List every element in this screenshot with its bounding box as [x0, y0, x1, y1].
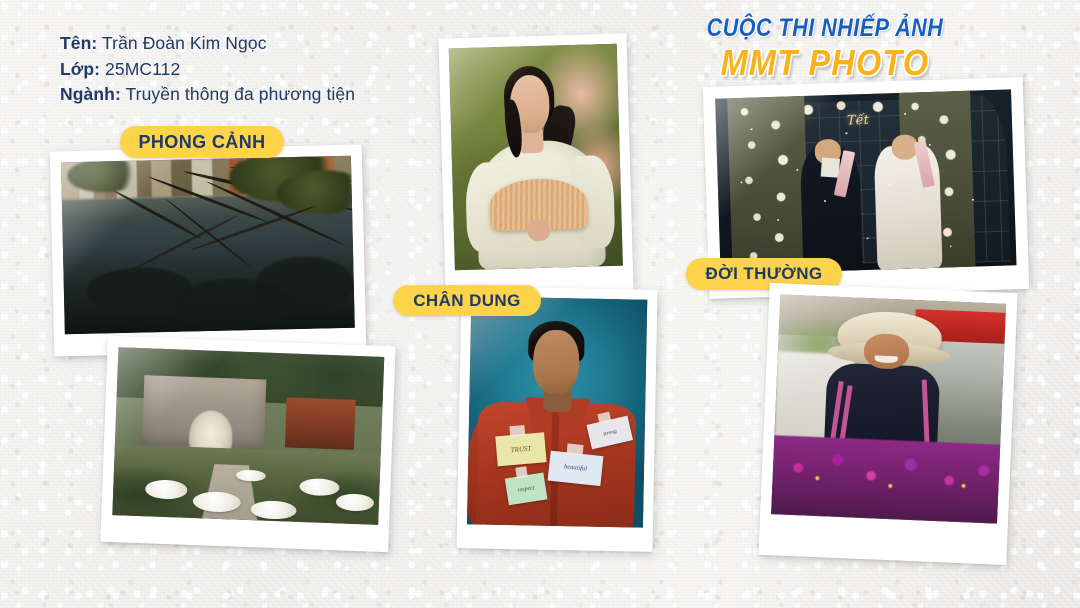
artwork-girl-fan: [449, 44, 623, 271]
wedding-arch-script-text: Tết: [825, 113, 891, 136]
sticky-note-respect: respect: [504, 472, 546, 505]
student-major-label: Ngành:: [60, 84, 121, 104]
photo-man-sticky-notes: TRUST beautiful respect strong: [467, 296, 647, 527]
student-class-label: Lớp:: [60, 59, 100, 79]
photo-wedding-couple: Tết: [715, 89, 1016, 274]
photo-wedding-venue: [112, 347, 384, 525]
artwork-venue: [112, 347, 384, 525]
artwork-man-notes: TRUST beautiful respect strong: [467, 296, 647, 527]
sticky-note-trust-text: TRUST: [511, 444, 532, 454]
student-major-value: Truyền thông đa phương tiện: [126, 84, 356, 104]
badge-landscape[interactable]: PHONG CẢNH: [120, 126, 284, 158]
student-info-block: Tên: Trần Đoàn Kim Ngọc Lớp: 25MC112 Ngà…: [60, 31, 355, 108]
contest-title-line1: CUỘC THI NHIẾP ẢNH: [623, 14, 1027, 42]
photo-girl-with-fan: [449, 44, 623, 271]
badge-landscape-label: PHONG CẢNH: [138, 132, 265, 153]
artwork-flower-vendor: [771, 294, 1006, 523]
photo-flower-vendor: [771, 294, 1006, 523]
polaroid-girl-with-fan[interactable]: [438, 33, 633, 294]
artwork-wedding-couple: Tết: [715, 89, 1016, 274]
polaroid-man-sticky-notes[interactable]: TRUST beautiful respect strong: [457, 286, 658, 552]
badge-portrait[interactable]: CHÂN DUNG: [393, 285, 541, 316]
polaroid-flower-vendor[interactable]: [758, 283, 1017, 565]
student-major-row: Ngành: Truyền thông đa phương tiện: [60, 82, 355, 108]
polaroid-lake-reflection[interactable]: [50, 144, 367, 356]
badge-portrait-label: CHÂN DUNG: [413, 291, 520, 311]
sticky-note-beautiful-text: beautiful: [564, 463, 588, 472]
student-class-row: Lớp: 25MC112: [60, 57, 355, 83]
sticky-note-beautiful: beautiful: [548, 451, 604, 486]
student-name-row: Tên: Trần Đoàn Kim Ngọc: [60, 31, 355, 57]
poster-canvas: Tên: Trần Đoàn Kim Ngọc Lớp: 25MC112 Ngà…: [0, 0, 1080, 608]
sticky-note-respect-text: respect: [517, 485, 535, 494]
badge-everyday-label: ĐỜI THƯỜNG: [706, 264, 823, 284]
photo-lake-reflection: [61, 156, 355, 335]
student-class-value: 25MC112: [105, 59, 180, 79]
student-name-label: Tên:: [60, 33, 97, 53]
sticky-note-strong-text: strong: [602, 428, 617, 437]
student-name-value: Trần Đoàn Kim Ngọc: [102, 33, 267, 53]
sticky-note-trust: TRUST: [495, 432, 547, 466]
artwork-lake: [61, 156, 355, 335]
polaroid-wedding-venue[interactable]: [100, 336, 395, 552]
